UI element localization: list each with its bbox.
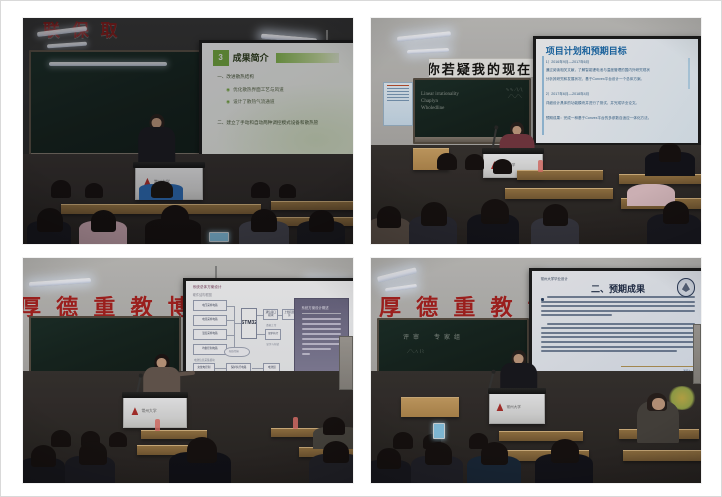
audience-head bbox=[279, 184, 296, 198]
audience-head bbox=[493, 159, 512, 174]
slide-bullet: 一、改进散热结构 bbox=[217, 74, 345, 80]
slide-system-architecture: 系统总体方案设计 硬件结构框图 电压采样电路 电流采样电路 温度采样电路 均衡控… bbox=[186, 281, 353, 385]
side-panel-text-line bbox=[302, 318, 341, 320]
photo-collage: 联 保 取 bbox=[1, 1, 722, 497]
audience-head bbox=[481, 199, 509, 224]
speaker-top-right bbox=[510, 122, 524, 138]
slide-text-line bbox=[541, 301, 696, 303]
screen-roller bbox=[533, 36, 701, 37]
scene-top-right: 你若疑我的现在， bbox=[371, 18, 701, 244]
audience-row bbox=[23, 437, 353, 483]
lectern-logo: 常州大学 bbox=[131, 407, 156, 415]
collage-cell-top-right: 你若疑我的现在， bbox=[362, 1, 722, 250]
audience-head bbox=[323, 417, 345, 435]
audience-head bbox=[31, 445, 56, 467]
speaker-bottom-left bbox=[154, 354, 169, 371]
slide-paragraph bbox=[541, 296, 696, 316]
diagram-block: 保护执行 bbox=[265, 329, 281, 339]
slide-header: 系统总体方案设计 bbox=[193, 285, 222, 290]
photo-bottom-right[interactable]: 厚 德 重 教 博 评审 专家组 ⟋⟍ ∕∖ ⌇⌇ 常州大学毕业设计 二、预期成… bbox=[371, 258, 701, 483]
diagram-bus bbox=[234, 306, 235, 349]
wall-banner: 你若疑我的现在， bbox=[429, 58, 545, 78]
laptop-screen bbox=[209, 232, 229, 242]
slide-body: 1）2016年9月—2017年6月 通过阅读相关文献，了解智能锂电池与温度管理的… bbox=[546, 60, 690, 125]
lectern-top bbox=[122, 392, 189, 398]
slide-body: 一、改进散热结构 优化散热界面工艺与风道 设计了散热气流通道 二、建立了手动和自… bbox=[217, 74, 345, 134]
audience-head bbox=[663, 201, 689, 224]
lectern-top bbox=[488, 388, 546, 394]
slide-subheader: 硬件结构框图 bbox=[193, 292, 212, 297]
diagram-caption: 显示与存储 bbox=[266, 342, 279, 346]
side-panel-text-line bbox=[302, 348, 331, 350]
slide-title-accent bbox=[276, 53, 339, 63]
slide-plan-heading: 1）2016年9月—2017年6月 bbox=[546, 60, 690, 65]
audience-head bbox=[37, 208, 63, 232]
blackboard-chalk-text: 评审 专家组 bbox=[403, 334, 464, 342]
scene-top-left: 联 保 取 bbox=[23, 18, 353, 244]
collage-cell-top-left: 联 保 取 bbox=[1, 1, 362, 250]
audience-row bbox=[23, 202, 353, 244]
slide-bullet: 二、建立了手动和自动两种调控模式设备和散热管 bbox=[217, 120, 345, 126]
desk-row bbox=[401, 397, 459, 417]
slide-section-number: 3 bbox=[213, 50, 229, 66]
slide-plan-line: 通过阅读相关文献，了解智能锂电池与温度管理的国内外研究现状 bbox=[546, 68, 690, 73]
side-panel-text-line bbox=[302, 328, 341, 330]
diagram-wire bbox=[252, 368, 264, 369]
slide-bullet-dot bbox=[541, 298, 544, 301]
audience-head bbox=[481, 442, 508, 465]
collage-cell-bottom-left: 厚 德 重 教 博 系统总体方案设计 硬件结构框图 电 bbox=[1, 250, 362, 497]
slide-plan-line: 分析其研究和发展状况，基于Convex平台设计一个总体方案。 bbox=[546, 77, 690, 82]
photo-top-right[interactable]: 你若疑我的现在， bbox=[371, 18, 701, 244]
audience-head bbox=[79, 441, 107, 465]
audience-head bbox=[51, 180, 71, 198]
mcu-label: STM32 bbox=[241, 321, 257, 326]
slide-text-line bbox=[541, 314, 612, 316]
poster-line bbox=[387, 94, 409, 95]
slide-text-line bbox=[541, 341, 696, 343]
diagram-caption: 数据上传 bbox=[266, 323, 276, 327]
slide-text-line bbox=[541, 332, 696, 334]
classroom-door bbox=[339, 336, 353, 390]
audience-head bbox=[251, 182, 270, 198]
audience-head bbox=[437, 153, 457, 170]
audience-head bbox=[323, 441, 349, 463]
slide-text-line bbox=[547, 296, 696, 298]
diagram-wire bbox=[227, 320, 234, 321]
diagram-wire bbox=[227, 335, 234, 336]
diagram-block: 温度采样电路 bbox=[193, 329, 227, 340]
photo-top-left[interactable]: 联 保 取 bbox=[23, 18, 353, 244]
diagram-block: 均衡控制电路 bbox=[193, 344, 227, 355]
slide-title: 项目计划和预期目标 bbox=[546, 44, 689, 57]
screen-roller bbox=[199, 40, 353, 41]
diagram-cloud-label: 无线传输 bbox=[229, 349, 239, 353]
audience-row bbox=[371, 184, 701, 244]
diagram-wire bbox=[257, 334, 265, 335]
slide-text-line bbox=[541, 305, 696, 307]
university-logo-icon bbox=[131, 407, 138, 415]
audience-head bbox=[161, 205, 189, 230]
slide-project-plan: 项目计划和预期目标 1）2016年9月—2017年6月 通过阅读相关文献，了解智… bbox=[536, 39, 698, 143]
side-panel-title: 系统方案设计概述 bbox=[302, 305, 341, 310]
side-panel-text-line bbox=[302, 343, 341, 345]
diagram-wire bbox=[215, 368, 226, 369]
audience-head bbox=[91, 210, 116, 232]
poster-line bbox=[387, 88, 409, 89]
side-panel-text-line bbox=[302, 323, 341, 325]
projection-screen: 3 成果简介 一、改进散热结构 优化散热界面工艺与风道 设计了散热气流通道 二、… bbox=[199, 40, 353, 160]
slide-title-bar: 3 成果简介 bbox=[213, 50, 339, 66]
poster-line bbox=[387, 85, 409, 86]
slide-text-line bbox=[541, 310, 696, 312]
slide-kicker: 常州大学毕业设计 bbox=[541, 276, 568, 281]
poster-line bbox=[387, 100, 409, 101]
slide-bullet: 优化散热界面工艺与风道 bbox=[226, 87, 345, 93]
slide-title: 二、预期成果 bbox=[532, 282, 701, 295]
scene-bottom-left: 厚 德 重 教 博 系统总体方案设计 硬件结构框图 电 bbox=[23, 258, 353, 483]
slide-footer-divider bbox=[621, 366, 693, 367]
lectern-top bbox=[133, 162, 204, 168]
slide-body bbox=[541, 296, 696, 358]
screen-roller bbox=[529, 268, 701, 269]
audience-row bbox=[371, 439, 701, 483]
slide-text-line bbox=[541, 336, 696, 338]
audience-head bbox=[187, 437, 217, 463]
photo-bottom-left[interactable]: 厚 德 重 教 博 系统总体方案设计 硬件结构框图 电 bbox=[23, 258, 353, 483]
scene-bottom-right: 厚 德 重 教 博 评审 专家组 ⟋⟍ ∕∖ ⌇⌇ 常州大学毕业设计 二、预期成… bbox=[371, 258, 701, 483]
audience-head bbox=[251, 209, 277, 232]
speaker-bottom-right bbox=[511, 350, 526, 367]
slide-plan-line: 详细设计具体的功能模块并进行了测试，并完成毕业论文。 bbox=[546, 101, 690, 106]
slide-plan-heading: 2）2017年6月—2018年4月 bbox=[546, 92, 690, 97]
audience-head bbox=[309, 210, 334, 232]
blackboard-chalk-text: Linear irrationality Chaplyn Wholedline bbox=[421, 92, 459, 112]
audience-head bbox=[421, 202, 447, 226]
audience-head bbox=[425, 442, 452, 465]
blackboard-chalk-figure: ⟋⟍ ∕∖ ⌇⌇ bbox=[407, 350, 424, 357]
block-diagram: 电压采样电路 电流采样电路 温度采样电路 均衡控制电路 电池信息采集模块 bbox=[191, 299, 290, 379]
blackboard bbox=[29, 50, 209, 160]
audience-row bbox=[23, 172, 353, 198]
collage-page: 联 保 取 bbox=[0, 0, 722, 497]
diagram-mcu-block: STM32 bbox=[241, 308, 258, 338]
classroom-door bbox=[693, 324, 701, 384]
projection-screen: 项目计划和预期目标 1）2016年9月—2017年6月 通过阅读相关文献，了解智… bbox=[533, 36, 701, 146]
diagram-block: 电压采样电路 bbox=[193, 300, 227, 311]
side-panel-text-line bbox=[302, 338, 341, 340]
screen-roller bbox=[183, 278, 353, 279]
audience-row bbox=[371, 142, 701, 176]
university-crest-icon bbox=[677, 278, 696, 297]
side-panel-text-line bbox=[302, 353, 311, 355]
audience-head bbox=[465, 154, 484, 170]
slide-text-line bbox=[541, 346, 696, 348]
slide-text-line bbox=[547, 323, 696, 325]
slide-bullet: 设计了散热气流通道 bbox=[226, 99, 345, 105]
audience-head bbox=[377, 448, 401, 469]
seated-reviewer-face bbox=[652, 398, 665, 410]
audience-head bbox=[551, 439, 579, 463]
lectern-label: 常州大学 bbox=[506, 405, 520, 410]
side-panel-text-line bbox=[302, 333, 341, 335]
blackboard-light bbox=[49, 62, 167, 66]
university-logo-icon bbox=[496, 403, 503, 411]
diagram-block: 电流采样电路 bbox=[193, 315, 227, 326]
audience-head bbox=[659, 143, 681, 162]
audience-head bbox=[543, 204, 568, 226]
wall-banner-text: 你若疑我的现在， bbox=[429, 59, 545, 78]
poster-line bbox=[387, 97, 409, 98]
collage-cell-bottom-right: 厚 德 重 教 博 评审 专家组 ⟋⟍ ∕∖ ⌇⌇ 常州大学毕业设计 二、预期成… bbox=[362, 250, 722, 497]
smartphone-screen[interactable] bbox=[433, 423, 445, 439]
blackboard-chalk-figure: ∿∿ ∕∖∕∖ ⟋⟍⟋⟍ bbox=[505, 88, 523, 102]
poster-line bbox=[387, 91, 409, 92]
diagram-wire bbox=[234, 323, 241, 324]
slide-text-line bbox=[541, 327, 696, 329]
diagram-caption: 电池信息采集模块 bbox=[194, 358, 215, 362]
diagram-wire bbox=[227, 306, 234, 307]
slide-title: 成果简介 bbox=[233, 51, 269, 64]
audience-head bbox=[377, 206, 401, 228]
notice-board-left bbox=[383, 82, 413, 126]
slide-paragraph bbox=[541, 323, 696, 353]
slide-text-line bbox=[541, 350, 677, 352]
lectern-logo: 常州大学 bbox=[496, 403, 520, 411]
speaker-top-left bbox=[149, 114, 164, 131]
audience-head bbox=[151, 181, 173, 198]
slide-expected-results: 常州大学毕业设计 二、预期成果 bbox=[532, 271, 701, 385]
diagram-block: 通信接口模块 bbox=[263, 309, 278, 320]
audience-head bbox=[85, 183, 103, 198]
slide-achievement-intro: 3 成果简介 一、改进散热结构 优化散热界面工艺与风道 设计了散热气流通道 二、… bbox=[202, 43, 353, 157]
slide-accent-line bbox=[542, 56, 544, 135]
slide-plan-outcome: 预期成果：完成一种基于Convex平台的多参数自适应一体化方法。 bbox=[546, 116, 690, 121]
lectern-label: 常州大学 bbox=[141, 409, 156, 414]
side-panel-divider bbox=[302, 313, 341, 314]
